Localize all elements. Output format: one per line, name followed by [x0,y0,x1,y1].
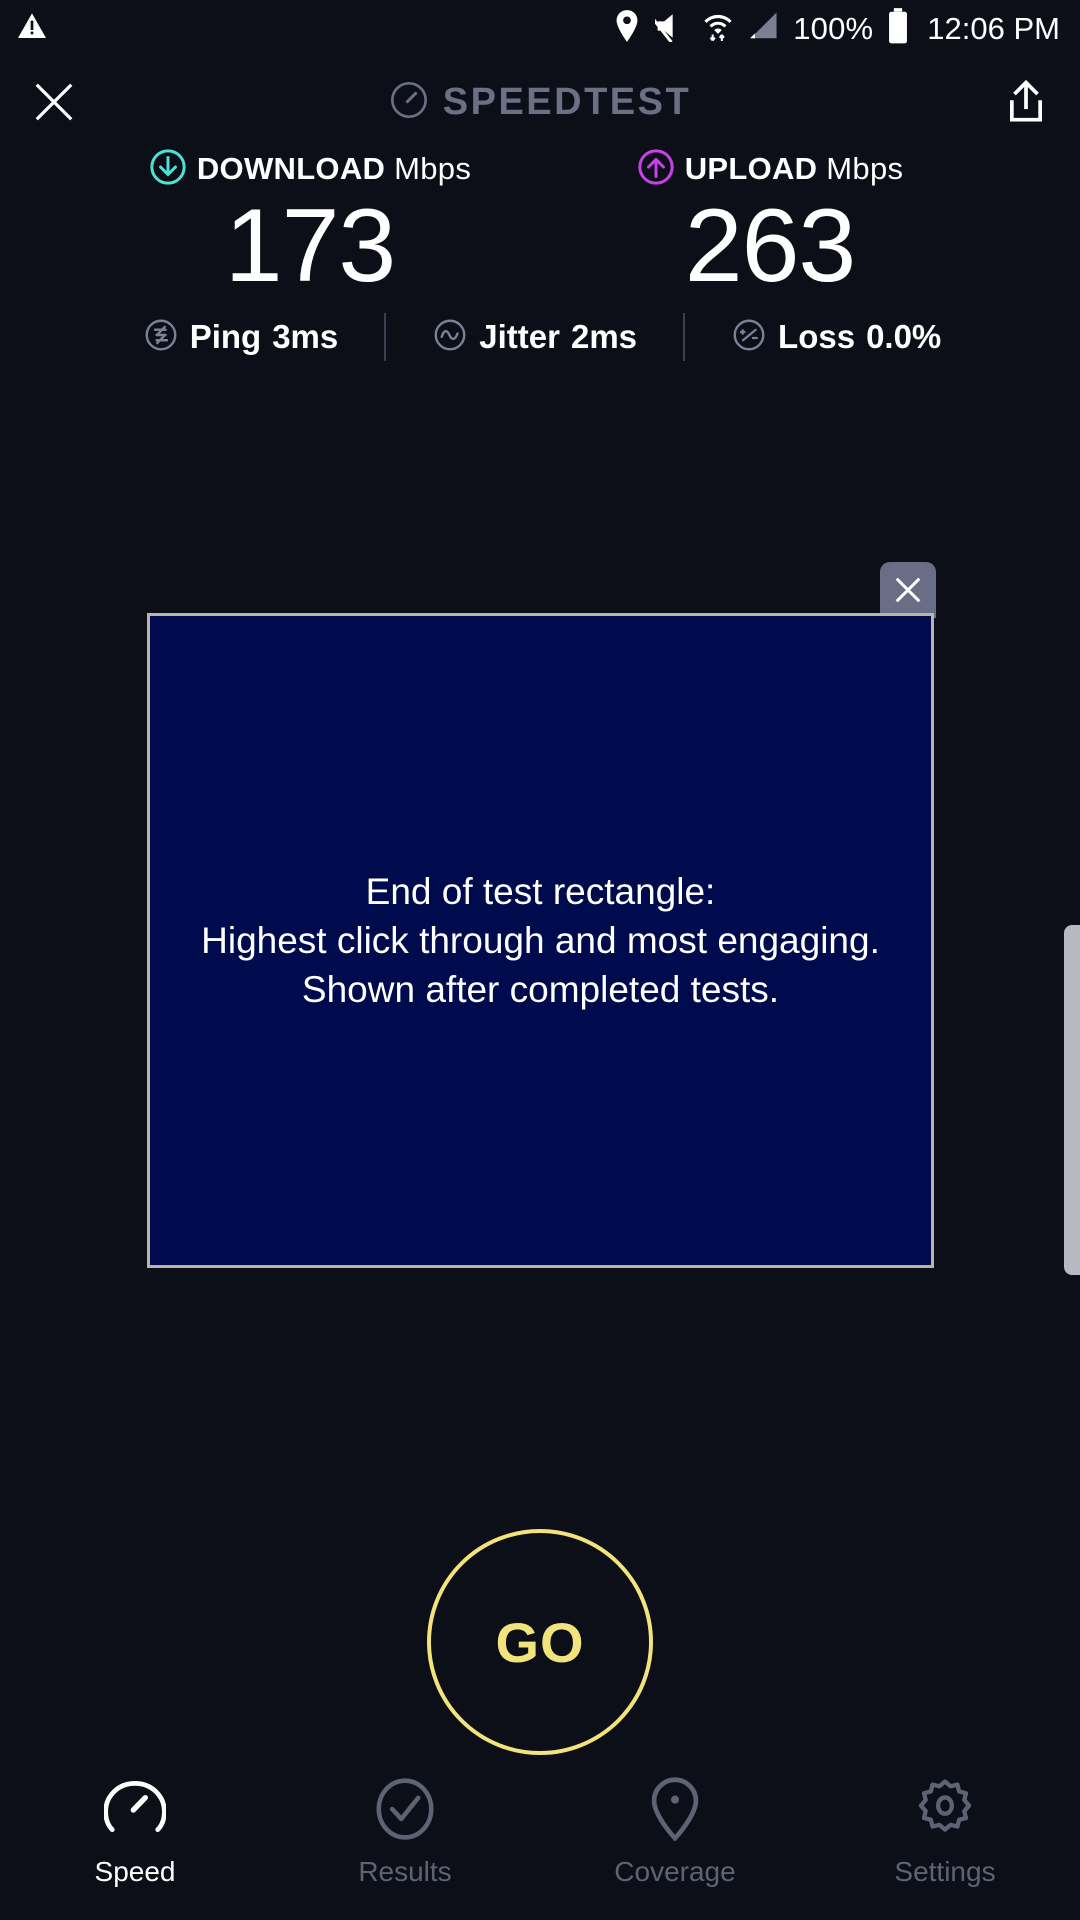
ad-line-1: End of test rectangle: [201,867,880,916]
ping-icon [143,317,179,358]
warning-triangle-icon [16,10,48,47]
cell-signal-icon [747,11,779,46]
advertisement-banner[interactable]: End of test rectangle: Highest click thr… [147,613,934,1268]
speed-metrics-row: DOWNLOAD Mbps 173 UPLOAD Mbps 263 [0,148,1080,301]
page-title: SPEEDTEST [443,81,691,124]
divider [683,313,685,361]
upload-value: 263 [685,192,856,301]
download-header: DOWNLOAD Mbps [149,148,471,190]
battery-full-icon [887,8,909,49]
battery-percent-label: 100% [793,13,873,44]
app-title-group: SPEEDTEST [82,80,998,125]
jitter-metric: Jitter 2ms [432,317,637,358]
ad-line-2: Highest click through and most engaging. [201,916,880,965]
loss-value: 0.0% [866,318,941,356]
close-icon [891,573,925,607]
jitter-icon [432,317,468,358]
nav-label-settings: Settings [894,1856,995,1888]
nav-label-results: Results [358,1856,451,1888]
go-button-label: GO [495,1610,584,1675]
status-bar-clock: 12:06 PM [927,13,1060,44]
jitter-value: 2ms [571,318,637,356]
ping-metric: Ping 3ms [143,317,339,358]
status-bar-left [16,10,48,47]
nav-item-settings[interactable]: Settings [810,1778,1080,1888]
close-icon [31,79,77,125]
bottom-navigation: Speed Results Coverage Settings [0,1764,1080,1920]
download-arrow-icon [149,148,187,191]
nav-label-speed: Speed [95,1856,176,1888]
close-button[interactable] [26,74,82,130]
divider [384,313,386,361]
app-header: SPEEDTEST [0,56,1080,148]
location-pin-icon [649,1778,701,1840]
download-metric: DOWNLOAD Mbps 173 [130,148,490,301]
share-icon [1004,79,1048,125]
go-button[interactable]: GO [427,1529,653,1755]
check-circle-icon [376,1778,434,1840]
upload-header: UPLOAD Mbps [637,148,904,190]
ad-line-3: Shown after completed tests. [201,965,880,1014]
ad-text: End of test rectangle: Highest click thr… [181,867,900,1015]
download-value: 173 [225,192,396,301]
status-bar-right: 100% 12:06 PM [613,8,1060,49]
nav-item-speed[interactable]: Speed [0,1778,270,1888]
gear-icon [915,1778,975,1840]
share-button[interactable] [998,74,1054,130]
download-label: DOWNLOAD Mbps [197,151,471,187]
ad-close-button[interactable] [880,562,936,618]
loss-icon [731,317,767,358]
ping-label: Ping [190,318,262,356]
loss-label: Loss [778,318,855,356]
ping-jitter-loss-row: Ping 3ms Jitter 2ms [0,311,1080,363]
nav-item-results[interactable]: Results [270,1778,540,1888]
wifi-icon [703,9,733,48]
results-panel: DOWNLOAD Mbps 173 UPLOAD Mbps 263 [0,148,1080,363]
speedometer-icon [104,1778,166,1840]
upload-metric: UPLOAD Mbps 263 [590,148,950,301]
jitter-label: Jitter [479,318,560,356]
loss-metric: Loss 0.0% [731,317,941,358]
mute-icon [655,10,689,47]
speedometer-icon [389,80,429,125]
status-bar: 100% 12:06 PM [0,0,1080,56]
ping-value: 3ms [272,318,338,356]
scrollbar[interactable] [1064,925,1080,1275]
upload-arrow-icon [637,148,675,191]
upload-label: UPLOAD Mbps [685,151,904,187]
location-pin-icon [613,9,641,48]
nav-label-coverage: Coverage [614,1856,735,1888]
nav-item-coverage[interactable]: Coverage [540,1778,810,1888]
